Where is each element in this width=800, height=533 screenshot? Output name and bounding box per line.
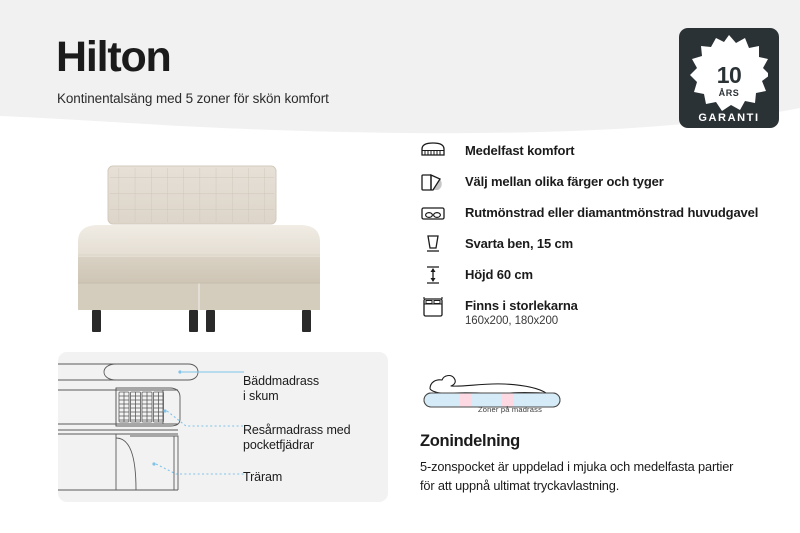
zone-caption: Zoner på madrass: [420, 405, 600, 414]
spec-row-height: Höjd 60 cm: [420, 264, 770, 295]
spec-label: Medelfast komfort: [465, 143, 574, 158]
spec-list: Medelfast komfort Välj mellan olika färg…: [420, 140, 770, 337]
fabric-swatch-icon: [420, 171, 450, 197]
spec-label: Rutmönstrad eller diamantmönstrad huvudg…: [465, 205, 758, 220]
spec-sublabel: 160x200, 180x200: [465, 315, 558, 327]
spec-label: Välj mellan olika färger och tyger: [465, 174, 664, 189]
page-subtitle: Kontinentalsäng med 5 zoner för skön kom…: [57, 91, 329, 106]
bed-leg-icon: [420, 233, 450, 259]
cutaway-label-spring: Resårmadrass med pocketfjädrar: [243, 423, 350, 453]
spec-label: Höjd 60 cm: [465, 267, 533, 282]
warranty-years: 10: [679, 64, 779, 87]
cutaway-label-line: i skum: [243, 389, 319, 404]
cutaway-label-frame: Träram: [243, 470, 282, 485]
spec-row-fabric: Välj mellan olika färger och tyger: [420, 171, 770, 202]
spec-label: Svarta ben, 15 cm: [465, 236, 573, 251]
product-infographic: Hilton Kontinentalsäng med 5 zoner för s…: [0, 0, 800, 533]
bed-size-icon: [420, 295, 450, 321]
warranty-years-label: ÅRS: [679, 88, 779, 98]
cutaway-label-line: Resårmadrass med: [243, 423, 350, 438]
page-title: Hilton: [56, 36, 171, 79]
spec-row-firmness: Medelfast komfort: [420, 140, 770, 171]
product-photo: [70, 145, 370, 340]
mattress-firmness-icon: [420, 140, 450, 166]
warranty-label: GARANTI: [679, 112, 779, 124]
headboard-icon: [420, 202, 450, 228]
height-arrow-icon: [420, 264, 450, 290]
spec-row-legs: Svarta ben, 15 cm: [420, 233, 770, 264]
spec-label: Finns i storlekarna: [465, 298, 578, 313]
cutaway-label-foam: Bäddmadrass i skum: [243, 374, 319, 404]
cutaway-label-line: pocketfjädrar: [243, 438, 350, 453]
spec-row-headboard: Rutmönstrad eller diamantmönstrad huvudg…: [420, 202, 770, 233]
zone-title: Zonindelning: [420, 432, 520, 451]
cutaway-label-line: Träram: [243, 470, 282, 485]
warranty-badge: 10 ÅRS GARANTI: [679, 28, 779, 128]
zone-body-text: 5-zonspocket är uppdelad i mjuka och med…: [420, 457, 750, 495]
cutaway-label-line: Bäddmadrass: [243, 374, 319, 389]
spec-row-sizes: Finns i storlekarna 160x200, 180x200: [420, 295, 770, 337]
